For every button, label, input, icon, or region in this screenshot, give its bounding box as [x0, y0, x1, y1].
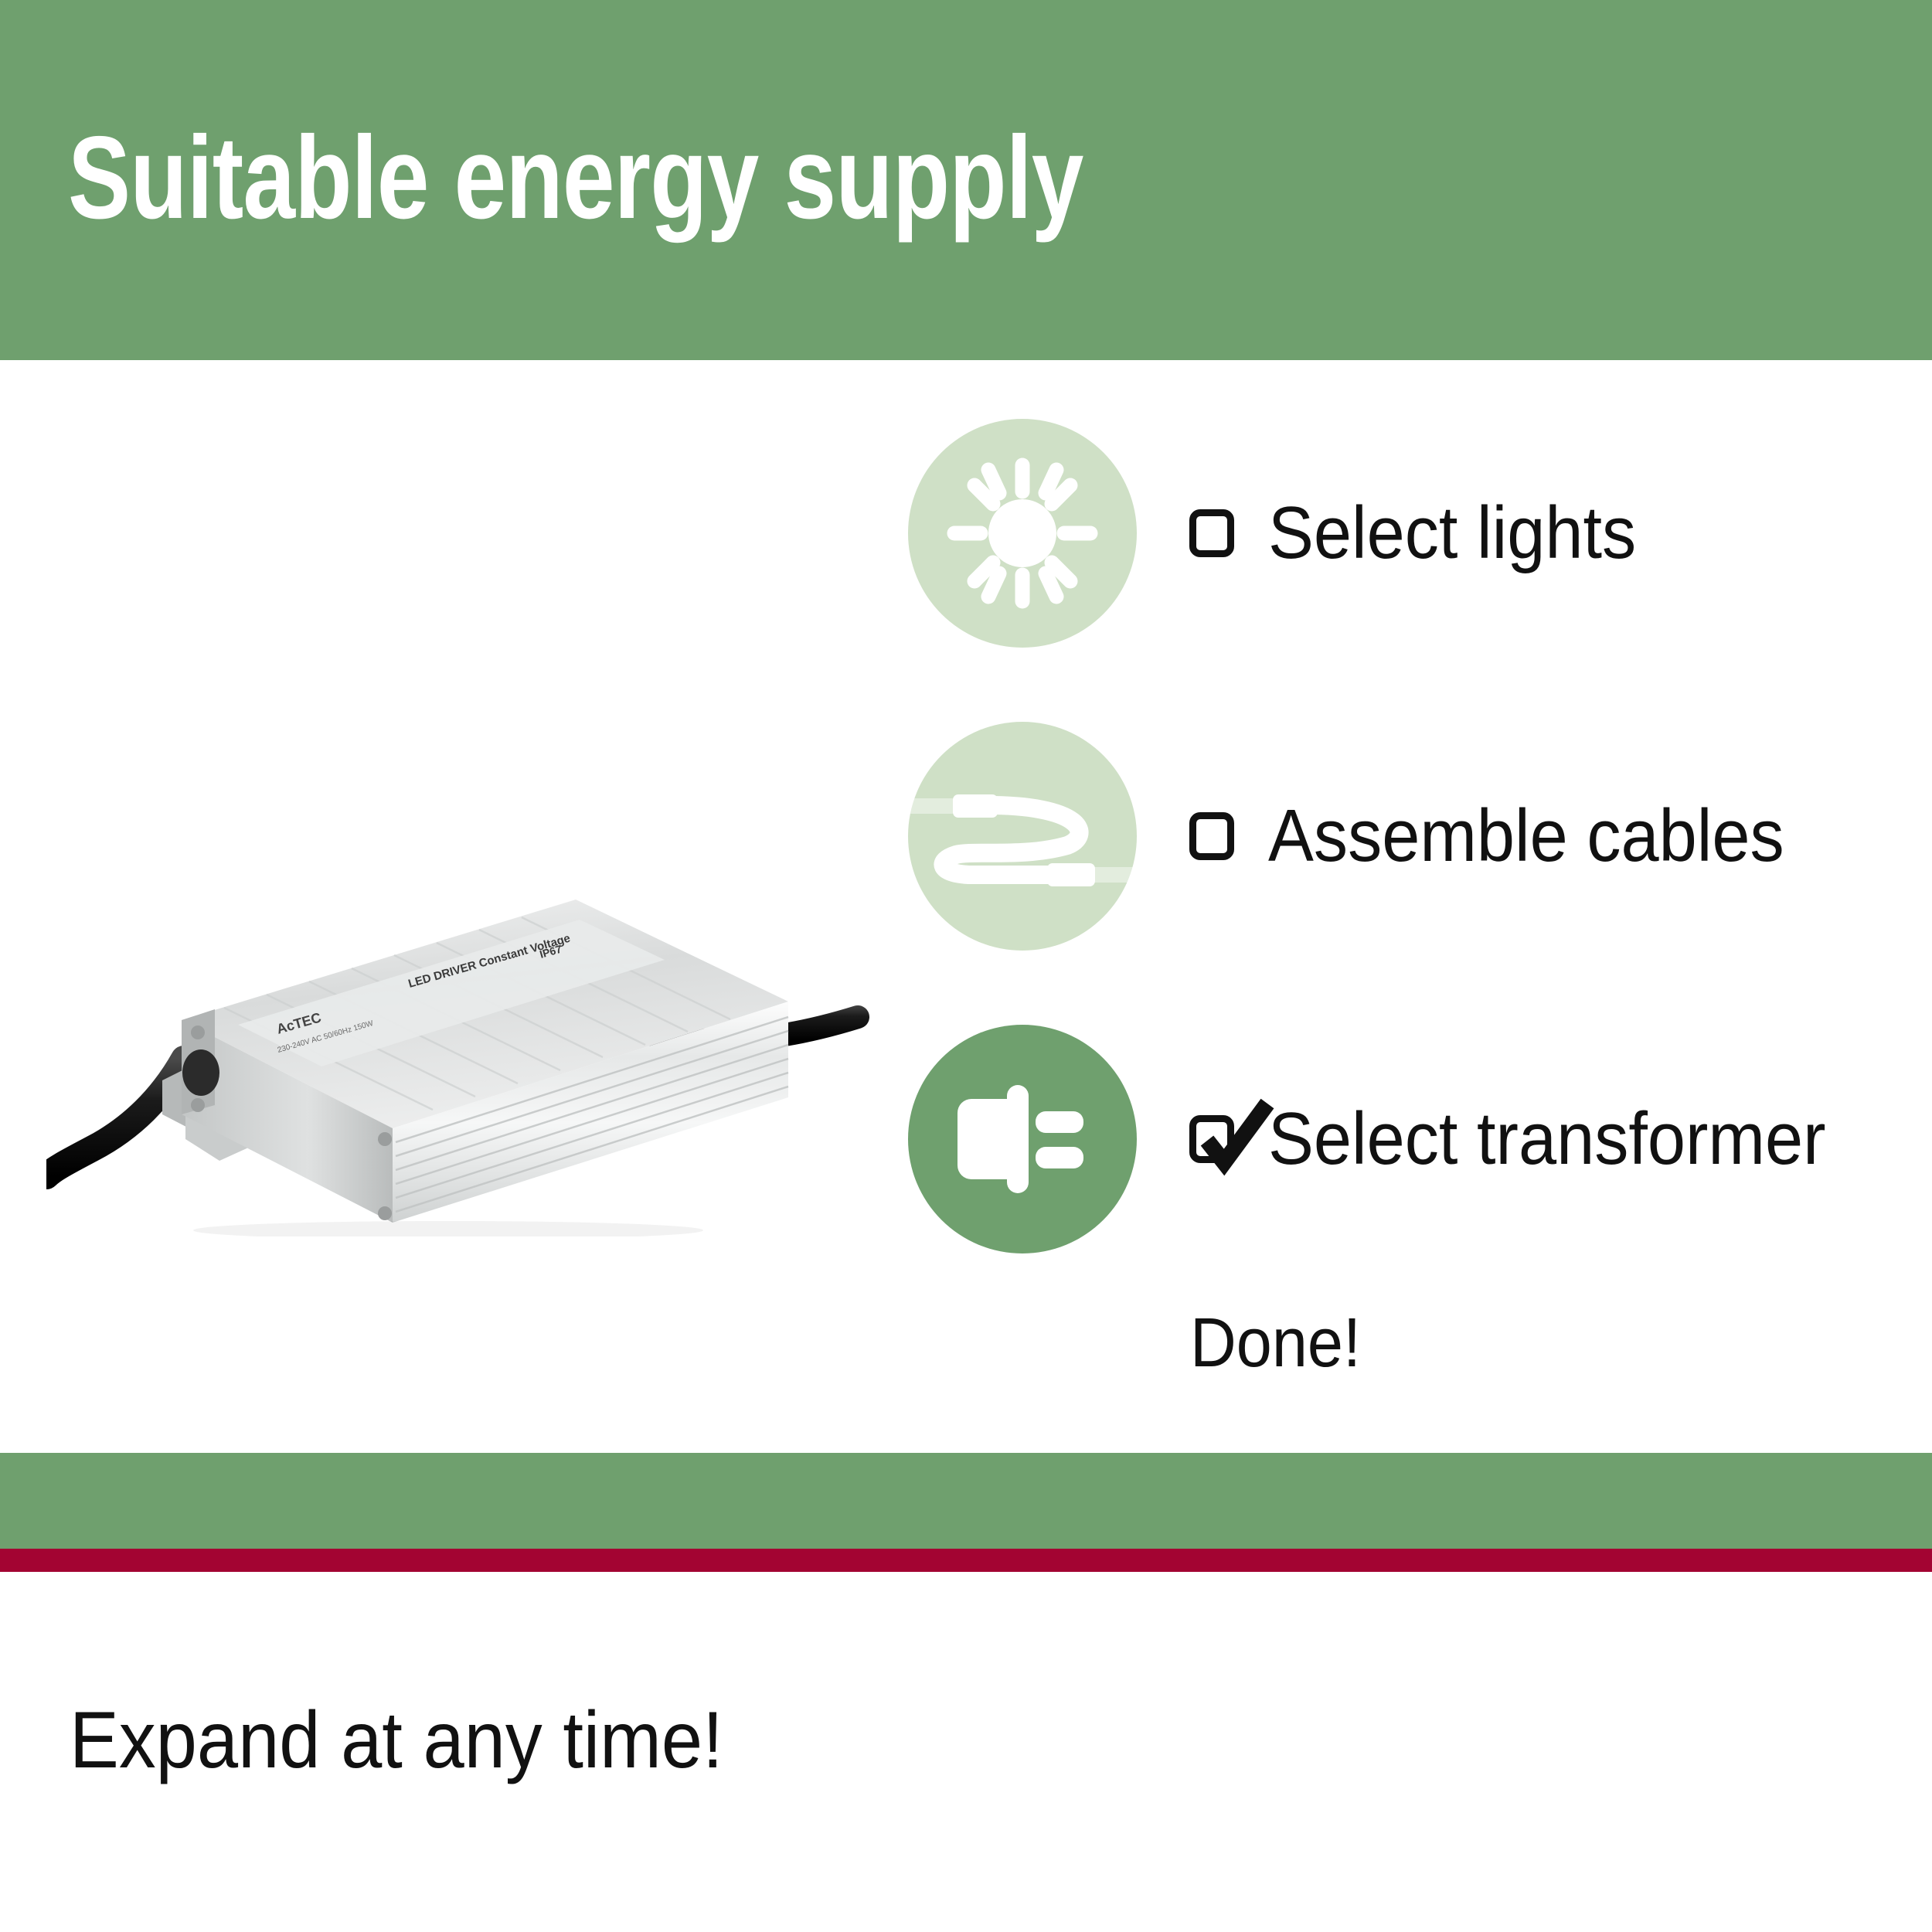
checklist-item-label: Select lights	[1268, 495, 1847, 572]
status-text-done: Done!	[1190, 1306, 1361, 1380]
checkbox-select-lights[interactable]	[1189, 509, 1248, 557]
checklist-item-assemble-cables[interactable]: Assemble cables	[908, 720, 1897, 952]
page-title: Suitable energy supply	[68, 116, 1428, 240]
product-photo-transformer: AcTEC LED DRIVER Constant Voltage IP67 2…	[46, 873, 912, 1236]
band-green	[0, 1453, 1932, 1549]
checklist-item-select-lights[interactable]: Select lights	[908, 417, 1897, 649]
checklist-item-label: Assemble cables	[1268, 798, 1847, 875]
checkbox-box[interactable]	[1189, 509, 1234, 557]
header-band: Suitable energy supply	[0, 0, 1932, 360]
check-mark-icon	[1193, 1094, 1278, 1179]
infographic-page: Suitable energy supply	[0, 0, 1932, 1932]
checkbox-box[interactable]	[1189, 1115, 1234, 1163]
cable-icon	[908, 722, 1137, 951]
checklist-item-select-transformer[interactable]: Select transformer	[908, 1023, 1897, 1255]
checkbox-box[interactable]	[1189, 812, 1234, 860]
sun-icon	[908, 419, 1137, 648]
checklist: Select lights	[908, 417, 1897, 1326]
plug-icon	[908, 1025, 1137, 1253]
checkbox-assemble-cables[interactable]	[1189, 812, 1248, 860]
checklist-item-label: Select transformer	[1268, 1100, 1847, 1178]
band-red	[0, 1549, 1932, 1572]
checkbox-select-transformer[interactable]	[1189, 1115, 1248, 1163]
footer-text: Expand at any time!	[70, 1697, 723, 1784]
